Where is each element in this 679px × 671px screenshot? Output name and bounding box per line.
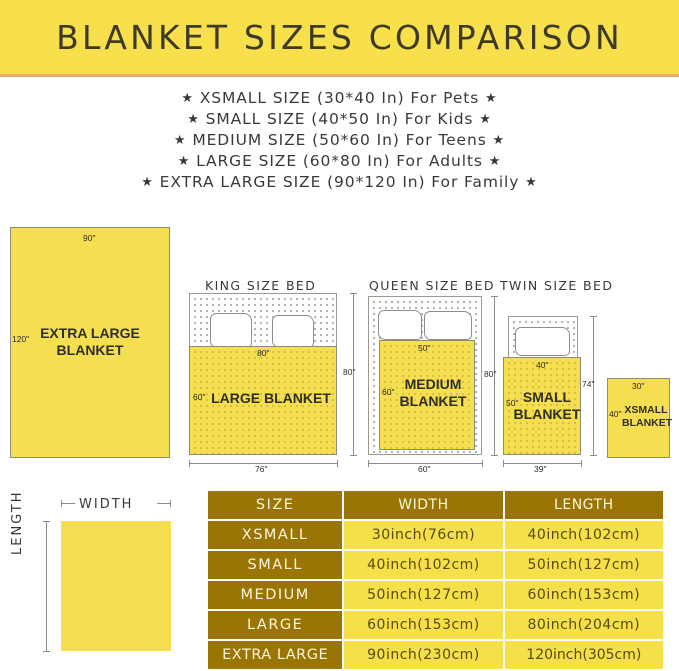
column-header-width: WIDTH: [344, 491, 502, 519]
king-pillow-left: [210, 313, 252, 348]
twin-bed-length-dim: 74": [582, 379, 594, 389]
xsmall-blanket-label: XSMALL BLANKET: [622, 404, 670, 430]
row-size-label: EXTRA LARGE: [208, 641, 342, 669]
row-size-label: LARGE: [208, 611, 342, 639]
king-width-tick-left: [189, 460, 190, 467]
king-length-tick-top: [350, 293, 357, 294]
king-width-tick-right: [337, 460, 338, 467]
twin-length-tick-top: [590, 316, 597, 317]
large-blanket-width-dim: 80": [257, 348, 269, 358]
row-width-value: 60inch(153cm): [344, 611, 502, 639]
key-width-label: WIDTH: [79, 497, 133, 512]
row-length-value: 40inch(102cm): [505, 521, 663, 549]
king-bed-caption: KING SIZE BED: [205, 278, 316, 293]
size-chart-table: SIZE WIDTH LENGTH XSMALL 30inch(76cm) 40…: [206, 489, 665, 671]
row-length-value: 60inch(153cm): [505, 581, 663, 609]
row-length-value: 80inch(204cm): [505, 611, 663, 639]
key-length-label: LENGTH: [10, 490, 25, 555]
table-row: MEDIUM 50inch(127cm) 60inch(153cm): [208, 581, 663, 609]
twin-length-tick-bottom: [590, 455, 597, 456]
queen-width-tick-left: [368, 460, 369, 467]
king-length-tick-bottom: [350, 455, 357, 456]
table-row: EXTRA LARGE 90inch(230cm) 120inch(305cm): [208, 641, 663, 669]
queen-bed-length-dim: 80": [484, 369, 496, 379]
twin-bed-caption: TWIN SIZE BED: [500, 278, 613, 293]
table-header-row: SIZE WIDTH LENGTH: [208, 491, 663, 519]
xsmall-blanket-width-dim: 30": [632, 381, 644, 391]
key-width-rule-right: [157, 503, 171, 504]
table-row: XSMALL 30inch(76cm) 40inch(102cm): [208, 521, 663, 549]
table-row: SMALL 40inch(102cm) 50inch(127cm): [208, 551, 663, 579]
king-bed-width-dim: 76": [255, 464, 267, 474]
key-length-tick-bottom: [43, 651, 50, 652]
king-bed-length-dim: 80": [343, 367, 355, 377]
queen-length-tick-top: [491, 296, 498, 297]
key-length-rule: [46, 521, 47, 651]
small-blanket-width-dim: 40": [536, 360, 548, 370]
twin-bed-width-dim: 39": [534, 464, 546, 474]
twin-width-tick-right: [581, 460, 582, 467]
twin-width-tick-left: [503, 460, 504, 467]
queen-pillow-left: [378, 310, 422, 340]
row-length-value: 50inch(127cm): [505, 551, 663, 579]
key-width-tick-right: [170, 500, 171, 507]
row-width-value: 50inch(127cm): [344, 581, 502, 609]
large-blanket-label: LARGE BLANKET: [205, 390, 337, 407]
table-row: LARGE 60inch(153cm) 80inch(204cm): [208, 611, 663, 639]
queen-length-tick-bottom: [491, 455, 498, 456]
width-length-key-shape: [61, 521, 171, 651]
twin-pillow: [515, 327, 570, 356]
column-header-size: SIZE: [208, 491, 342, 519]
queen-bed-width-dim: 60": [418, 464, 430, 474]
row-width-value: 90inch(230cm): [344, 641, 502, 669]
king-pillow-right: [272, 315, 314, 348]
medium-blanket-label: MEDIUM BLANKET: [391, 376, 475, 410]
key-width-rule: [61, 503, 75, 504]
column-header-length: LENGTH: [505, 491, 663, 519]
key-width-tick-left: [61, 500, 62, 507]
row-size-label: XSMALL: [208, 521, 342, 549]
queen-width-tick-right: [482, 460, 483, 467]
row-width-value: 30inch(76cm): [344, 521, 502, 549]
queen-bed-caption: QUEEN SIZE BED: [369, 278, 495, 293]
row-width-value: 40inch(102cm): [344, 551, 502, 579]
large-blanket-length-dim: 60": [193, 392, 205, 402]
xsmall-blanket-length-dim: 40": [609, 409, 621, 419]
extra-large-blanket-label: EXTRA LARGE BLANKET: [10, 325, 170, 359]
medium-blanket-width-dim: 50": [418, 343, 430, 353]
row-length-value: 120inch(305cm): [505, 641, 663, 669]
queen-pillow-right: [424, 311, 472, 340]
row-size-label: MEDIUM: [208, 581, 342, 609]
extra-large-width-dim: 90": [83, 233, 95, 243]
row-size-label: SMALL: [208, 551, 342, 579]
key-length-tick-top: [43, 521, 50, 522]
small-blanket-label: SMALL BLANKET: [513, 389, 581, 423]
